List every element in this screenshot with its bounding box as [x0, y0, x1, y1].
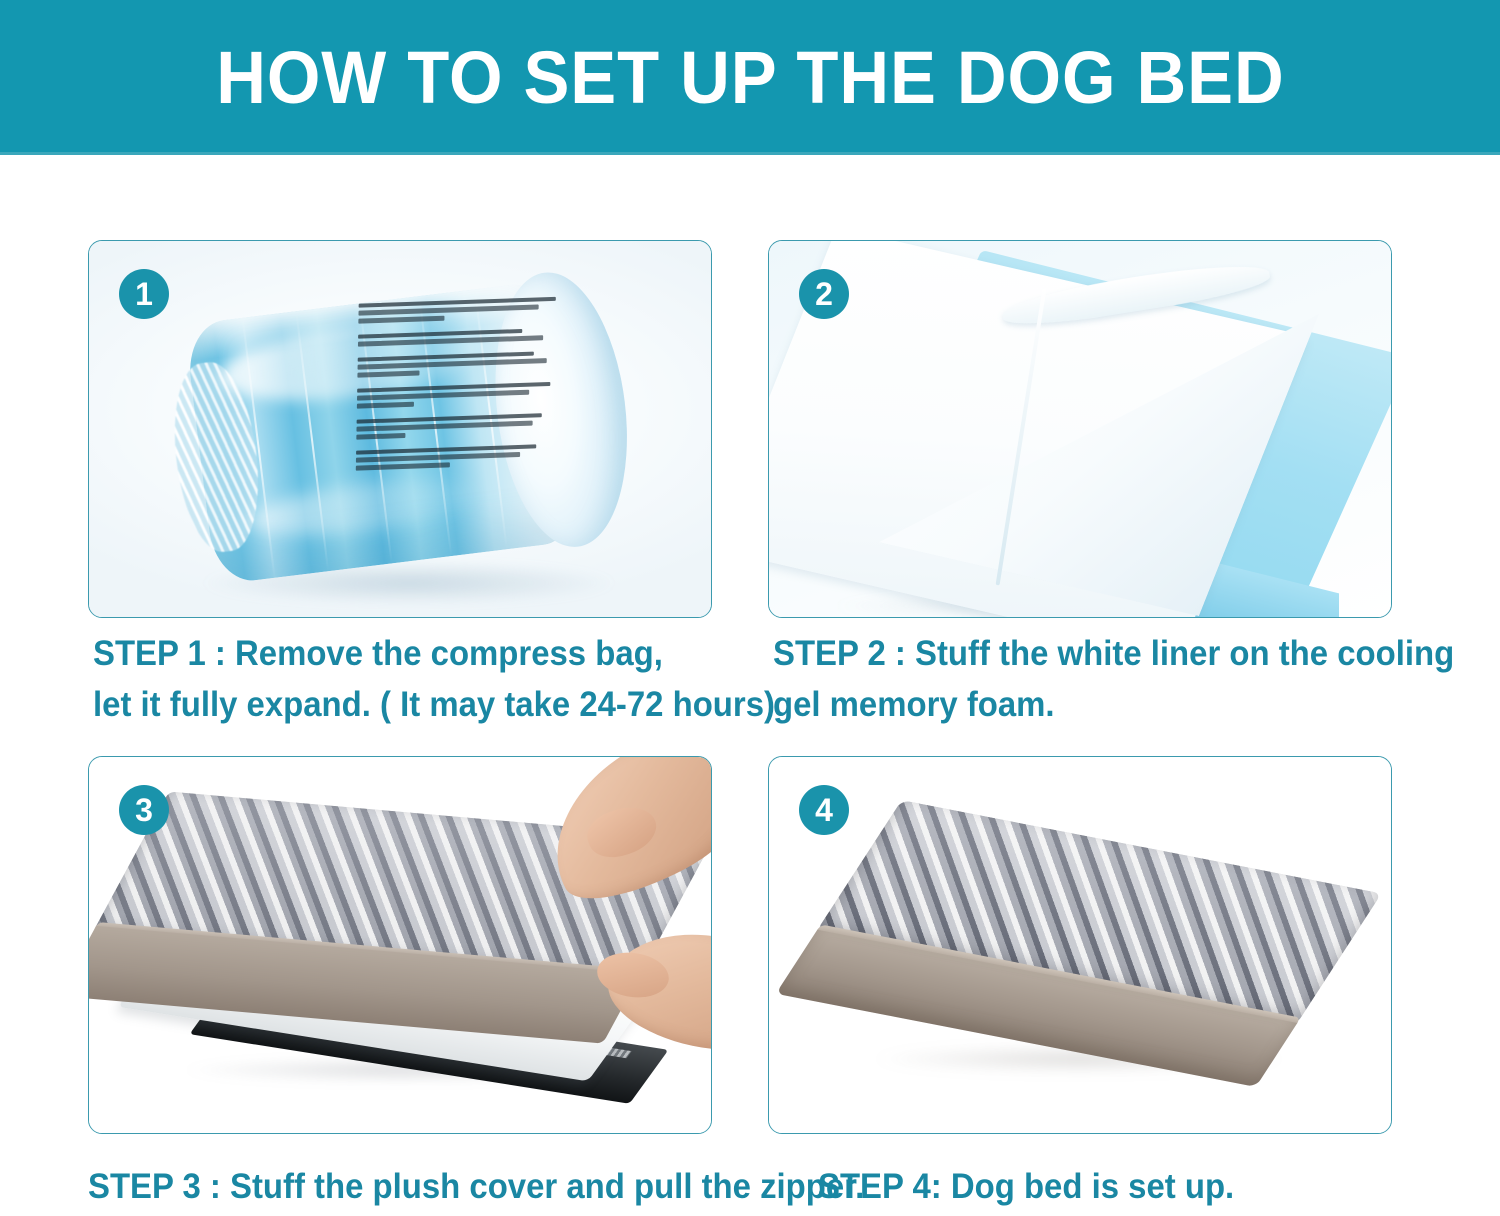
caption-line: STEP 2 : Stuff the white liner on the co… — [773, 628, 1454, 679]
step-4-image — [769, 757, 1391, 1133]
step-3-caption: STEP 3 : Stuff the plush cover and pull … — [88, 1161, 864, 1212]
step-1-image — [89, 241, 711, 617]
step-badge-2: 2 — [799, 269, 849, 319]
step-2-caption: STEP 2 : Stuff the white liner on the co… — [773, 628, 1454, 730]
step-panel-1: 1 — [88, 240, 712, 618]
step-panel-4: 4 — [768, 756, 1392, 1134]
step-panel-3: 3 — [88, 756, 712, 1134]
step-1-caption: STEP 1 : Remove the compress bag, let it… — [93, 628, 775, 730]
step-4-caption: STEP 4: Dog bed is set up. — [818, 1161, 1234, 1212]
step-3-image — [89, 757, 711, 1133]
page-header: HOW TO SET UP THE DOG BED — [0, 0, 1500, 155]
page-title: HOW TO SET UP THE DOG BED — [216, 41, 1284, 115]
step-panel-2: 2 — [768, 240, 1392, 618]
warning-label-icon — [355, 297, 564, 529]
caption-line: gel memory foam. — [773, 679, 1454, 730]
step-badge-3: 3 — [119, 785, 169, 835]
step-badge-4: 4 — [799, 785, 849, 835]
steps-grid: 1 2 — [0, 155, 1500, 1216]
step-badge-1: 1 — [119, 269, 169, 319]
caption-line: STEP 1 : Remove the compress bag, — [93, 628, 775, 679]
step-2-image — [769, 241, 1391, 617]
caption-line: STEP 3 : Stuff the plush cover and pull … — [88, 1161, 864, 1212]
caption-line: STEP 4: Dog bed is set up. — [818, 1161, 1234, 1212]
caption-line: let it fully expand. ( It may take 24-72… — [93, 679, 775, 730]
compressed-roll — [152, 252, 656, 617]
